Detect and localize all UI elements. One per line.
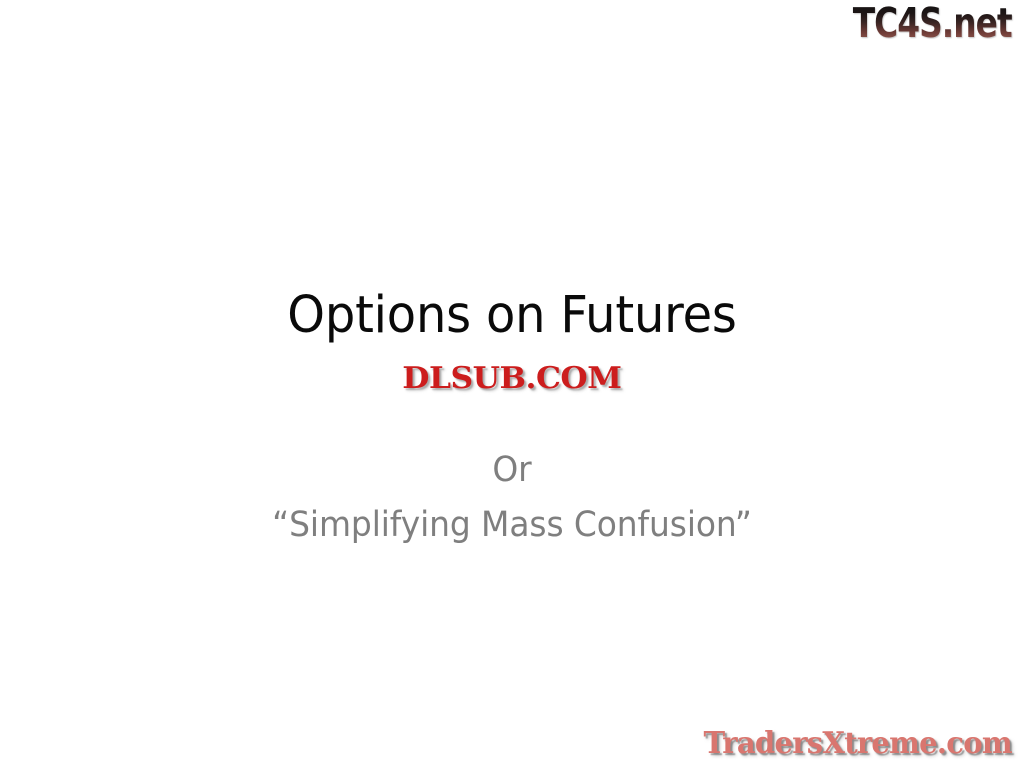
tradersxtreme-watermark-logo: TradersXtreme.com [704,727,1012,760]
title-block: Options on Futures [0,288,1024,343]
subtitle-line-1: Or [31,443,994,498]
subtitle-block: Or “Simplifying Mass Confusion” [0,443,1024,554]
tc4s-watermark-logo: TC4S.net [853,2,1012,45]
subtitle-line-2: “Simplifying Mass Confusion” [31,498,994,553]
dlsub-watermark: DLSUB.COM [0,362,1024,394]
slide-title: Options on Futures [31,288,994,343]
presentation-slide: TC4S.net Options on Futures DLSUB.COM Or… [0,0,1024,768]
dlsub-watermark-logo: DLSUB.COM [402,363,621,392]
